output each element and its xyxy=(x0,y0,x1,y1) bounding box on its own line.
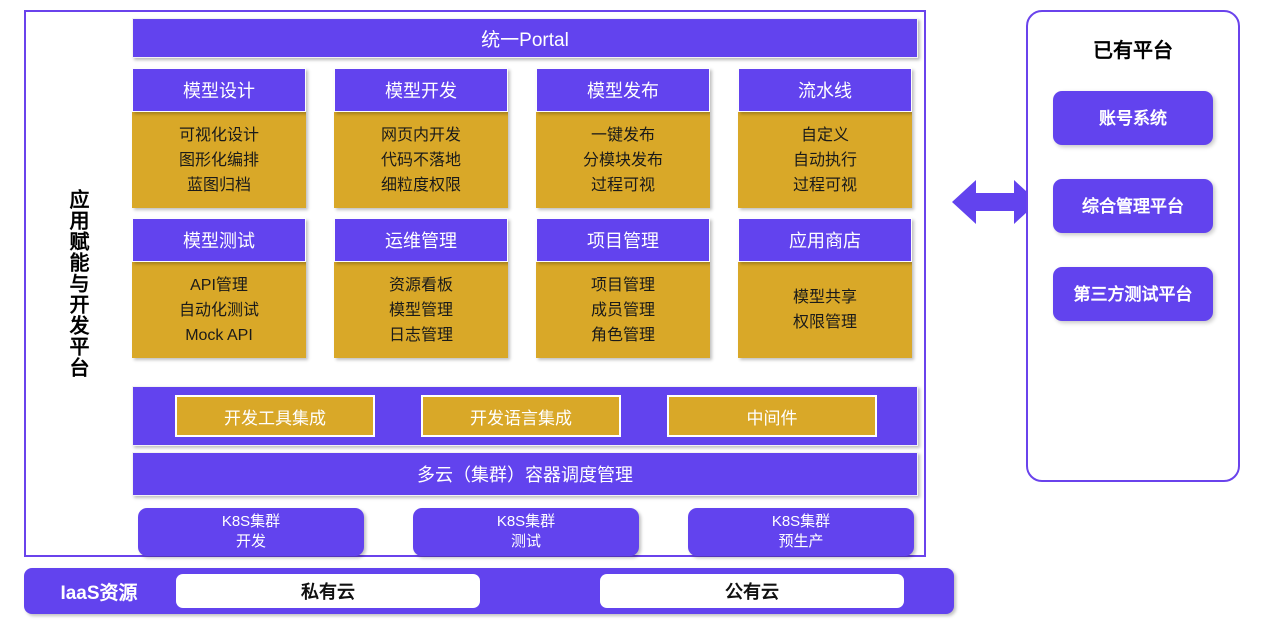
k8s-cluster-env: 预生产 xyxy=(778,532,823,552)
module-feature: 成员管理 xyxy=(591,298,655,323)
k8s-cluster-env: 测试 xyxy=(511,532,541,552)
k8s-cluster-title: K8S集群 xyxy=(772,512,830,532)
unified-portal-bar[interactable]: 统一Portal xyxy=(132,18,918,58)
module-feature: 分模块发布 xyxy=(583,148,663,173)
module-feature: 图形化编排 xyxy=(179,148,259,173)
module-feature: 自定义 xyxy=(801,123,849,148)
module-feature: 模型管理 xyxy=(389,298,453,323)
module-body: 资源看板 模型管理 日志管理 xyxy=(334,262,508,358)
module-body: 一键发布 分模块发布 过程可视 xyxy=(536,112,710,208)
module-title: 模型设计 xyxy=(132,68,306,112)
module-body: 自定义 自动执行 过程可视 xyxy=(738,112,912,208)
module-feature: 角色管理 xyxy=(591,323,655,348)
module-body: 模型共享 权限管理 xyxy=(738,262,912,358)
diagram-root: 应用赋能与开发平台 统一Portal 模型设计 可视化设计 图形化编排 蓝图归档… xyxy=(0,0,1267,623)
module-feature: 模型共享 xyxy=(793,285,857,310)
module-feature: 可视化设计 xyxy=(179,123,259,148)
module-feature: 日志管理 xyxy=(389,323,453,348)
k8s-cluster-row: K8S集群 开发 K8S集群 测试 K8S集群 预生产 xyxy=(138,508,918,556)
module-card-pipeline[interactable]: 流水线 自定义 自动执行 过程可视 xyxy=(738,68,912,208)
integration-chip-dev-languages[interactable]: 开发语言集成 xyxy=(421,395,621,437)
module-card-model-test[interactable]: 模型测试 API管理 自动化测试 Mock API xyxy=(132,218,306,358)
existing-platform-integrated-management[interactable]: 综合管理平台 xyxy=(1053,179,1213,233)
integration-chip-middleware[interactable]: 中间件 xyxy=(667,395,877,437)
module-row-top: 模型设计 可视化设计 图形化编排 蓝图归档 模型开发 网页内开发 代码不落地 细… xyxy=(132,68,918,208)
iaas-resource-label: IaaS资源 xyxy=(24,578,174,605)
module-feature: 网页内开发 xyxy=(381,123,461,148)
existing-platforms-panel: 已有平台 账号系统 综合管理平台 第三方测试平台 xyxy=(1026,10,1240,482)
module-feature: Mock API xyxy=(185,323,253,348)
platform-inner-area: 统一Portal 模型设计 可视化设计 图形化编排 蓝图归档 模型开发 网页内开… xyxy=(132,18,918,558)
existing-platforms-list: 账号系统 综合管理平台 第三方测试平台 xyxy=(1028,91,1238,321)
module-title: 运维管理 xyxy=(334,218,508,262)
module-title: 模型测试 xyxy=(132,218,306,262)
k8s-cluster-title: K8S集群 xyxy=(222,512,280,532)
module-card-model-development[interactable]: 模型开发 网页内开发 代码不落地 细粒度权限 xyxy=(334,68,508,208)
module-feature: 项目管理 xyxy=(591,273,655,298)
k8s-cluster-env: 开发 xyxy=(236,532,266,552)
integration-strip: 开发工具集成 开发语言集成 中间件 xyxy=(132,386,918,446)
platform-vertical-label: 应用赋能与开发平台 xyxy=(24,10,130,557)
module-title: 项目管理 xyxy=(536,218,710,262)
iaas-private-cloud[interactable]: 私有云 xyxy=(176,574,480,608)
module-title: 流水线 xyxy=(738,68,912,112)
module-card-ops-management[interactable]: 运维管理 资源看板 模型管理 日志管理 xyxy=(334,218,508,358)
unified-portal-label: 统一Portal xyxy=(481,25,569,52)
platform-vertical-label-text: 应用赋能与开发平台 xyxy=(67,189,87,378)
k8s-cluster-dev[interactable]: K8S集群 开发 xyxy=(138,508,364,556)
module-feature: 资源看板 xyxy=(389,273,453,298)
iaas-public-cloud[interactable]: 公有云 xyxy=(600,574,904,608)
module-card-model-design[interactable]: 模型设计 可视化设计 图形化编排 蓝图归档 xyxy=(132,68,306,208)
module-card-app-store[interactable]: 应用商店 模型共享 权限管理 xyxy=(738,218,912,358)
multicloud-label: 多云（集群）容器调度管理 xyxy=(417,461,633,487)
module-feature: 一键发布 xyxy=(591,123,655,148)
k8s-cluster-test[interactable]: K8S集群 测试 xyxy=(413,508,639,556)
module-title: 模型发布 xyxy=(536,68,710,112)
module-feature: 自动执行 xyxy=(793,148,857,173)
module-feature: 权限管理 xyxy=(793,310,857,335)
module-feature: 自动化测试 xyxy=(179,298,259,323)
module-body: 项目管理 成员管理 角色管理 xyxy=(536,262,710,358)
module-row-bottom: 模型测试 API管理 自动化测试 Mock API 运维管理 资源看板 模型管理… xyxy=(132,218,918,358)
k8s-cluster-preprod[interactable]: K8S集群 预生产 xyxy=(688,508,914,556)
existing-platform-third-party-test[interactable]: 第三方测试平台 xyxy=(1053,267,1213,321)
module-title: 应用商店 xyxy=(738,218,912,262)
module-feature: API管理 xyxy=(190,273,248,298)
integration-chip-dev-tools[interactable]: 开发工具集成 xyxy=(175,395,375,437)
k8s-cluster-title: K8S集群 xyxy=(497,512,555,532)
module-card-project-management[interactable]: 项目管理 项目管理 成员管理 角色管理 xyxy=(536,218,710,358)
module-feature: 蓝图归档 xyxy=(187,173,251,198)
module-body: 可视化设计 图形化编排 蓝图归档 xyxy=(132,112,306,208)
module-body: 网页内开发 代码不落地 细粒度权限 xyxy=(334,112,508,208)
iaas-resource-bar: IaaS资源 私有云 公有云 xyxy=(24,568,954,614)
existing-platform-account-system[interactable]: 账号系统 xyxy=(1053,91,1213,145)
module-card-model-release[interactable]: 模型发布 一键发布 分模块发布 过程可视 xyxy=(536,68,710,208)
module-feature: 细粒度权限 xyxy=(381,173,461,198)
existing-platforms-title: 已有平台 xyxy=(1028,34,1238,63)
module-title: 模型开发 xyxy=(334,68,508,112)
module-feature: 代码不落地 xyxy=(381,148,461,173)
module-body: API管理 自动化测试 Mock API xyxy=(132,262,306,358)
multicloud-scheduling-bar[interactable]: 多云（集群）容器调度管理 xyxy=(132,452,918,496)
module-feature: 过程可视 xyxy=(591,173,655,198)
module-feature: 过程可视 xyxy=(793,173,857,198)
